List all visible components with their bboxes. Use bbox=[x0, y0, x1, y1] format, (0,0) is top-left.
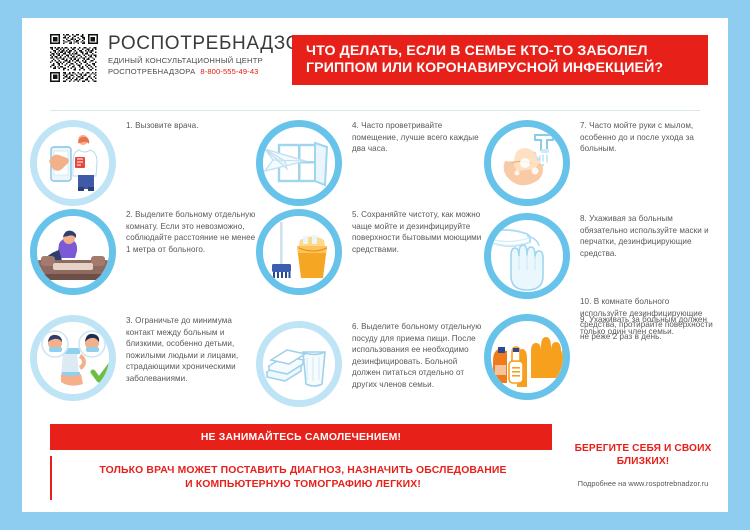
brand-subtitle-line1: ЕДИНЫЙ КОНСУЛЬТАЦИОННЫЙ ЦЕНТР bbox=[108, 56, 314, 66]
separate-dishes-icon bbox=[256, 321, 342, 407]
tips-column-1: 1. Вызовите врача. bbox=[30, 114, 260, 414]
tip-text-5: 5. Сохраняйте чистоту, как можно чаще мо… bbox=[352, 209, 488, 255]
take-care-line-2: БЛИЗКИХ! bbox=[568, 455, 718, 468]
mask-and-gloves-icon bbox=[484, 213, 570, 299]
logo-text: РОСПОТРЕБНАДЗОР ЕДИНЫЙ КОНСУЛЬТАЦИОННЫЙ … bbox=[108, 34, 314, 77]
tip-text-4: 4. Часто проветривайте помещение, лучше … bbox=[352, 120, 488, 155]
poster-header: РОСПОТРЕБНАДЗОР ЕДИНЫЙ КОНСУЛЬТАЦИОННЫЙ … bbox=[22, 18, 728, 98]
logo-block: РОСПОТРЕБНАДЗОР ЕДИНЫЙ КОНСУЛЬТАЦИОННЫЙ … bbox=[50, 34, 314, 82]
tip-text-7: 7. Часто мойте руки с мылом, особенно до… bbox=[580, 120, 716, 155]
tips-column-3: 7. Часто мойте руки с мылом, особенно до… bbox=[484, 114, 714, 414]
headline-line-1: ЧТО ДЕЛАТЬ, ЕСЛИ В СЕМЬЕ КТО-ТО ЗАБОЛЕЛ bbox=[306, 43, 708, 60]
person-on-sofa-isolation-icon bbox=[30, 209, 116, 295]
tip-text-10: 10. В комнате больного используйте дезин… bbox=[580, 296, 716, 342]
social-distance-contact-icon bbox=[30, 315, 116, 401]
header-divider bbox=[50, 110, 700, 111]
mop-and-bucket-icon bbox=[256, 209, 342, 295]
doctor-phone-call-icon bbox=[30, 120, 116, 206]
qr-code-icon bbox=[50, 34, 98, 82]
brand-title: РОСПОТРЕБНАДЗОР bbox=[108, 34, 314, 54]
more-info-link[interactable]: Подробнее на www.rospotrebnadzor.ru bbox=[568, 479, 718, 489]
headline-banner: ЧТО ДЕЛАТЬ, ЕСЛИ В СЕМЬЕ КТО-ТО ЗАБОЛЕЛ … bbox=[292, 35, 708, 85]
self-medication-warning: НЕ ЗАНИМАЙТЕСЬ САМОЛЕЧЕНИЕМ! bbox=[50, 424, 552, 450]
tip-text-8: 8. Ухаживая за больным обязательно испол… bbox=[580, 213, 716, 259]
tip-text-3: 3. Ограничьте до минимума контакт между … bbox=[126, 315, 258, 385]
poster-footer: НЕ ЗАНИМАЙТЕСЬ САМОЛЕЧЕНИЕМ! ТОЛЬКО ВРАЧ… bbox=[22, 416, 728, 512]
take-care-block: БЕРЕГИТЕ СЕБЯ И СВОИХ БЛИЗКИХ! Подробнее… bbox=[568, 442, 718, 489]
doctor-advice-block: ТОЛЬКО ВРАЧ МОЖЕТ ПОСТАВИТЬ ДИАГНОЗ, НАЗ… bbox=[50, 456, 554, 500]
hotline-phone: 8-800-555-49-43 bbox=[200, 67, 258, 76]
headline-line-2: ГРИППОМ ИЛИ КОРОНАВИРУСНОЙ ИНФЕКЦИЕЙ? bbox=[306, 60, 708, 77]
doctor-advice-line-2: И КОМПЬЮТЕРНУЮ ТОМОГРАФИЮ ЛЕГКИХ! bbox=[185, 478, 421, 492]
tips-grid: 1. Вызовите врача. bbox=[22, 114, 728, 414]
tip-text-1: 1. Вызовите врача. bbox=[126, 120, 258, 132]
brand-subtitle-line2: РОСПОТРЕБНАДЗОРА8-800-555-49-43 bbox=[108, 67, 314, 77]
self-medication-warning-text: НЕ ЗАНИМАЙТЕСЬ САМОЛЕЧЕНИЕМ! bbox=[201, 432, 401, 443]
open-window-ventilation-icon bbox=[256, 120, 342, 206]
tips-column-2: 4. Часто проветривайте помещение, лучше … bbox=[256, 114, 486, 414]
tip-text-6: 6. Выделите больному отдельную посуду дл… bbox=[352, 321, 488, 391]
brand-subtitle-text: РОСПОТРЕБНАДЗОРА bbox=[108, 67, 195, 76]
take-care-line-1: БЕРЕГИТЕ СЕБЯ И СВОИХ bbox=[568, 442, 718, 455]
washing-hands-icon bbox=[484, 120, 570, 206]
tip-text-2: 2. Выделите больному отдельную комнату. … bbox=[126, 209, 258, 255]
disinfectant-spray-gloves-icon bbox=[484, 314, 570, 400]
doctor-advice-line-1: ТОЛЬКО ВРАЧ МОЖЕТ ПОСТАВИТЬ ДИАГНОЗ, НАЗ… bbox=[99, 464, 506, 478]
poster: РОСПОТРЕБНАДЗОР ЕДИНЫЙ КОНСУЛЬТАЦИОННЫЙ … bbox=[22, 18, 728, 512]
